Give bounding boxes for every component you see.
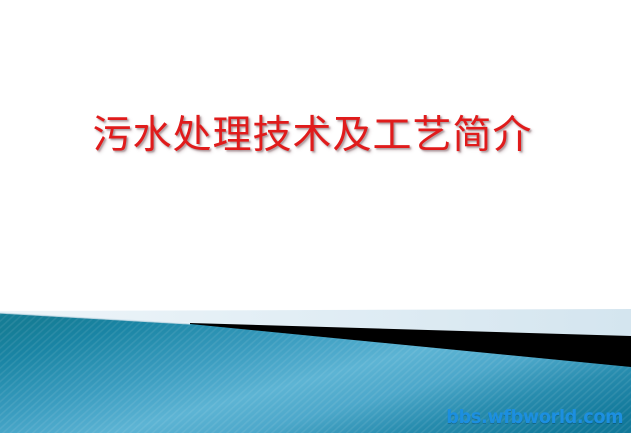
slide-canvas: 污水处理技术及工艺简介 <box>0 0 631 433</box>
page-title: 污水处理技术及工艺简介 <box>92 112 532 160</box>
watermark-text: bbs.wfbworld.com <box>446 406 623 428</box>
title-block: 污水处理技术及工艺简介 <box>0 112 631 160</box>
